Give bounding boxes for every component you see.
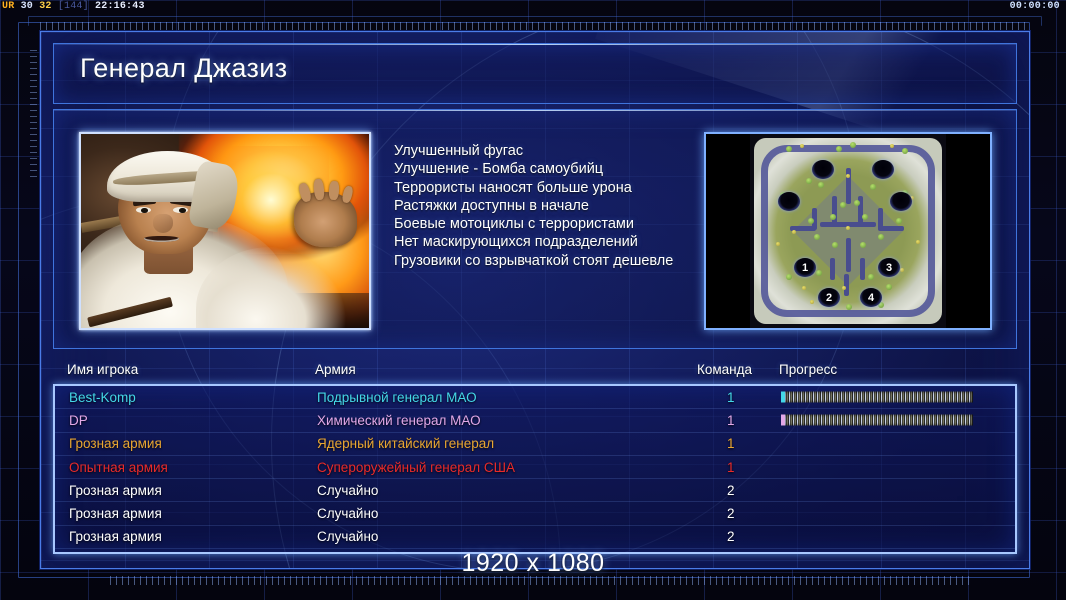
map-tree-icon bbox=[850, 142, 856, 148]
map-tree-icon bbox=[806, 178, 812, 184]
player-army: Химический генерал МАО bbox=[317, 413, 481, 428]
map-tree-icon bbox=[818, 182, 824, 188]
column-header-progress: Прогресс bbox=[779, 362, 837, 377]
table-row[interactable]: Грозная армияСлучайно2 bbox=[55, 526, 1015, 549]
map-marker bbox=[872, 160, 894, 179]
page-title: Генерал Джазиз bbox=[80, 53, 288, 84]
map-tree-icon bbox=[776, 242, 780, 246]
map-tree-icon bbox=[916, 240, 920, 244]
player-army: Ядерный китайский генерал bbox=[317, 436, 494, 451]
map-tree-icon bbox=[846, 226, 850, 230]
player-team: 1 bbox=[727, 413, 735, 428]
player-team: 2 bbox=[727, 529, 735, 544]
map-road-segment bbox=[860, 258, 865, 280]
players-table-header: Имя игрока Армия Команда Прогресс bbox=[53, 362, 1017, 384]
status-bar-left: UR 30 32 [144] 22:16:43 bbox=[2, 1, 145, 12]
map-tree-icon bbox=[900, 268, 904, 272]
general-bonus-line: Улучшение - Бомба самоубийц bbox=[394, 160, 724, 178]
player-team: 2 bbox=[727, 506, 735, 521]
map-road-segment bbox=[844, 274, 849, 296]
portrait-pupil-left bbox=[141, 208, 148, 213]
general-bonus-line: Террористы наносят больше урона bbox=[394, 179, 724, 197]
map-tree-icon bbox=[808, 218, 814, 224]
map-tree-icon bbox=[868, 274, 874, 280]
title-bar-highlight bbox=[54, 44, 1016, 45]
map-start-position-3: 3 bbox=[878, 258, 900, 277]
map-tree-icon bbox=[846, 304, 852, 310]
map-road-segment bbox=[830, 258, 835, 280]
player-name: Опытная армия bbox=[69, 460, 168, 475]
frame-bracket-top bbox=[28, 16, 1042, 26]
general-bonus-list: Улучшенный фугасУлучшение - Бомба самоуб… bbox=[394, 142, 724, 270]
map-marker bbox=[890, 192, 912, 211]
player-progress-bar bbox=[781, 392, 973, 403]
column-header-army: Армия bbox=[315, 362, 356, 377]
player-team: 1 bbox=[727, 460, 735, 475]
resolution-caption: 1920 x 1080 bbox=[0, 549, 1066, 578]
general-bonus-line: Улучшенный фугас bbox=[394, 142, 724, 160]
map-tree-icon bbox=[814, 234, 820, 240]
map-start-position-1: 1 bbox=[794, 258, 816, 277]
player-name: Грозная армия bbox=[69, 506, 162, 521]
table-row[interactable]: Грозная армияЯдерный китайский генерал1 bbox=[55, 433, 1015, 456]
table-row[interactable]: Грозная армияСлучайно2 bbox=[55, 502, 1015, 525]
progress-fill bbox=[785, 415, 973, 426]
player-army: Случайно bbox=[317, 529, 378, 544]
player-name: DP bbox=[69, 413, 88, 428]
map-road-segment bbox=[878, 226, 904, 231]
map-road-segment bbox=[846, 238, 851, 272]
map-tree-icon bbox=[854, 200, 860, 206]
player-team: 2 bbox=[727, 483, 735, 498]
map-tree-icon bbox=[800, 144, 804, 148]
map-tree-icon bbox=[886, 284, 892, 290]
column-header-team: Команда bbox=[697, 362, 752, 377]
map-tree-icon bbox=[842, 286, 846, 290]
player-name: Best-Komp bbox=[69, 390, 136, 405]
status-time: 22:16:43 bbox=[95, 1, 145, 12]
player-team: 1 bbox=[727, 436, 735, 451]
map-tree-icon bbox=[792, 230, 796, 234]
map-tree-icon bbox=[902, 148, 908, 154]
map-tree-icon bbox=[786, 274, 792, 280]
screen-root: UR 30 32 [144] 22:16:43 00:00:00 Генерал… bbox=[0, 0, 1066, 600]
progress-fill bbox=[785, 392, 973, 403]
map-tree-icon bbox=[802, 286, 806, 290]
table-row[interactable]: DPХимический генерал МАО1 bbox=[55, 409, 1015, 432]
player-team: 1 bbox=[727, 390, 735, 405]
status-clock: 00:00:00 bbox=[1010, 1, 1060, 12]
map-tree-icon bbox=[862, 214, 868, 220]
player-name: Грозная армия bbox=[69, 483, 162, 498]
portrait-finger-3 bbox=[328, 180, 339, 200]
status-bracket: [144] bbox=[58, 1, 89, 12]
player-name: Грозная армия bbox=[69, 436, 162, 451]
map-tree-icon bbox=[878, 234, 884, 240]
player-army: Подрывной генерал МАО bbox=[317, 390, 477, 405]
map-tree-icon bbox=[896, 218, 902, 224]
portrait-artwork bbox=[81, 134, 369, 328]
map-marker bbox=[778, 192, 800, 211]
player-name: Грозная армия bbox=[69, 529, 162, 544]
general-info-panel: Улучшенный фугасУлучшение - Бомба самоуб… bbox=[53, 109, 1017, 349]
map-tree-icon bbox=[890, 144, 894, 148]
map-marker bbox=[812, 160, 834, 179]
map-tree-icon bbox=[810, 300, 814, 304]
map-start-position-4: 4 bbox=[860, 288, 882, 307]
map-tree-icon bbox=[816, 270, 822, 276]
map-start-position-2: 2 bbox=[818, 288, 840, 307]
column-header-name: Имя игрока bbox=[67, 362, 138, 377]
general-bonus-line: Нет маскирующихся подразделений bbox=[394, 233, 724, 251]
table-row[interactable]: Best-KompПодрывной генерал МАО1 bbox=[55, 386, 1015, 409]
map-tree-icon bbox=[786, 146, 792, 152]
map-tree-icon bbox=[846, 174, 850, 178]
table-row[interactable]: Опытная армияСупероружейный генерал США1 bbox=[55, 456, 1015, 479]
general-bonus-line: Боевые мотоциклы с террористами bbox=[394, 215, 724, 233]
player-army: Случайно bbox=[317, 483, 378, 498]
map-tree-icon bbox=[836, 146, 842, 152]
status-value2: 32 bbox=[39, 1, 51, 12]
game-window: Генерал Джазиз bbox=[40, 31, 1030, 569]
status-value1: 30 bbox=[21, 1, 33, 12]
player-army: Супероружейный генерал США bbox=[317, 460, 515, 475]
player-progress-bar bbox=[781, 415, 973, 426]
portrait-pupil-right bbox=[179, 208, 186, 213]
table-row[interactable]: Грозная армияСлучайно2 bbox=[55, 479, 1015, 502]
general-bonus-line: Растяжки доступны в начале bbox=[394, 197, 724, 215]
content-panel-highlight bbox=[54, 110, 1016, 111]
map-tree-icon bbox=[830, 214, 836, 220]
map-tree-icon bbox=[860, 242, 866, 248]
portrait-nose bbox=[153, 214, 173, 233]
map-tree-icon bbox=[870, 184, 876, 190]
player-army: Случайно bbox=[317, 506, 378, 521]
players-table: Best-KompПодрывной генерал МАО1DPХимичес… bbox=[53, 384, 1017, 554]
map-tree-icon bbox=[840, 202, 846, 208]
general-portrait bbox=[79, 132, 371, 330]
title-bar: Генерал Джазиз bbox=[53, 43, 1017, 104]
map-tree-icon bbox=[832, 242, 838, 248]
map-image: 1234 bbox=[750, 134, 946, 328]
map-preview: 1234 bbox=[704, 132, 992, 330]
status-label: UR bbox=[2, 1, 14, 12]
general-bonus-line: Грузовики со взрывчаткой стоят дешевле bbox=[394, 252, 724, 270]
